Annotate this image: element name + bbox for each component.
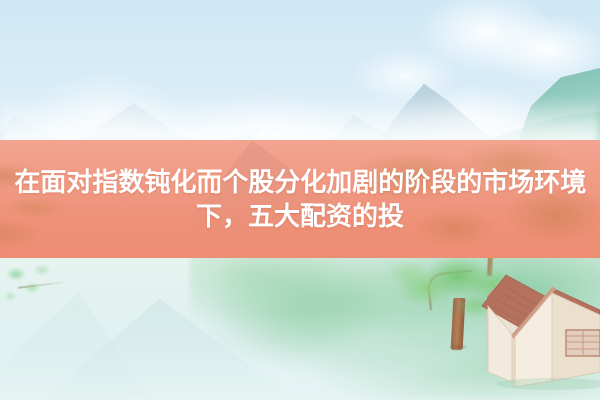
leaf-sprig	[2, 258, 66, 318]
headline-band: 在面对指数钝化而个股分化加剧的阶段的市场环境 下，五大配资的投	[0, 140, 600, 258]
headline-block: 在面对指数钝化而个股分化加剧的阶段的市场环境 下，五大配资的投	[0, 140, 600, 258]
headline-line-2: 下，五大配资的投	[196, 201, 404, 231]
headline-line-1: 在面对指数钝化而个股分化加剧的阶段的市场环境	[14, 167, 586, 197]
banner-image: 在面对指数钝化而个股分化加剧的阶段的市场环境 下，五大配资的投	[0, 0, 600, 400]
